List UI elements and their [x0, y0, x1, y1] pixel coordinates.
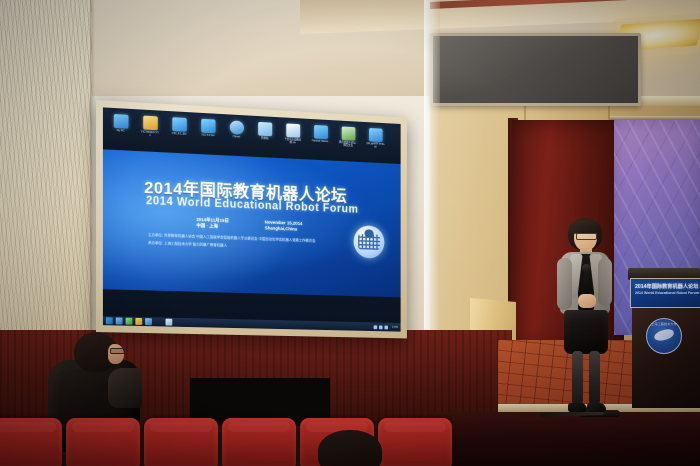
slide-meta-chinese: 2014年11月15日 中国 · 上海 — [196, 217, 228, 231]
desktop-icon-it-book[interactable]: DFLab中学 IT Book — [366, 128, 384, 150]
speaker-arm-right — [598, 258, 612, 306]
shortcut-icon — [286, 123, 300, 137]
system-tray[interactable]: 14:05 — [373, 325, 398, 329]
desktop-icon-vjc-modem[interactable]: VJC-Modem V1.2 — [140, 115, 159, 138]
slide-location-cn: 中国 · 上海 — [196, 223, 228, 231]
desktop-icon-label: 回收站 — [255, 136, 274, 140]
speaker-arm-left — [557, 258, 572, 310]
glasses-icon — [110, 348, 125, 354]
lectern-banner-title-cn: 2014年国际教育机器人论坛 — [635, 283, 698, 290]
speaker-woman — [540, 218, 626, 430]
document-icon — [369, 128, 383, 142]
seat[interactable] — [0, 418, 62, 466]
desktop-icon-itunes[interactable]: iTunes — [227, 120, 246, 142]
tray-volume-icon[interactable] — [379, 325, 383, 329]
projection-screen-surface: My PC VJC-Modem V1.2 VJC_6.1_EN VJC 4.0 … — [103, 107, 401, 331]
red-auditorium-seats — [0, 418, 470, 466]
desktop-icon-vjc40ch[interactable]: VJC 4.0 CH — [198, 119, 217, 141]
taskbar-icon-browser[interactable] — [135, 318, 142, 325]
slide-location-en: Shanghai,China — [265, 226, 303, 234]
taskbar-icon-explorer[interactable] — [116, 317, 123, 324]
dark-wall-board — [430, 33, 641, 106]
folder-icon — [314, 125, 328, 139]
start-button-icon[interactable] — [106, 317, 113, 324]
taskbar-icon-app[interactable] — [126, 318, 133, 325]
desktop-background-bottom: 14:05 — [103, 289, 401, 331]
speaker-fringe — [569, 220, 601, 234]
app-icon — [201, 119, 215, 134]
desktop-icon-recycle-bin[interactable]: 回收站 — [255, 122, 274, 144]
taskbar-icon-media[interactable] — [145, 318, 152, 325]
desktop-icon-label: DFLab中学 IT Book — [366, 142, 384, 149]
recycle-bin-icon — [258, 122, 272, 136]
jacket-shoulder — [108, 368, 142, 408]
seat[interactable] — [66, 418, 140, 466]
lecture-hall-photo: My PC VJC-Modem V1.2 VJC_6.1_EN VJC 4.0 … — [0, 0, 700, 466]
lectern-banner-title-en: 2014 World Educational Robot Forum — [635, 291, 699, 295]
lectern-banner: 2014年国际教育机器人论坛 2014 World Educational Ro… — [630, 278, 700, 308]
university-emblem-text: 上海工程技术大学 — [647, 322, 681, 326]
speaker-shoe-right — [587, 403, 606, 412]
university-emblem-icon: 上海工程技术大学 — [646, 318, 682, 354]
desktop-icon-row: My PC VJC-Modem V1.2 VJC_6.1_EN VJC 4.0 … — [111, 114, 385, 150]
document-icon — [341, 126, 355, 140]
lectern: 2014年国际教育机器人论坛 2014 World Educational Ro… — [628, 268, 700, 428]
computer-icon — [113, 114, 128, 129]
desktop-icon-label: VJC_6.1_EN — [169, 132, 188, 136]
speaker-shoe-left — [568, 403, 587, 412]
desktop-icon-label: 教育机器人论坛 - 网页文档 — [339, 141, 357, 148]
seat[interactable] — [222, 418, 296, 466]
audience-man-face — [108, 344, 124, 364]
projection-screen: My PC VJC-Modem V1.2 VJC_6.1_EN VJC 4.0 … — [96, 100, 407, 338]
desktop-icon-my-pc[interactable]: My PC — [111, 114, 131, 137]
microphone-head-icon — [582, 264, 591, 272]
tray-battery-icon[interactable] — [384, 325, 388, 329]
desktop-icon-label: My PC — [111, 129, 131, 133]
presentation-slide: 2014年国际教育机器人论坛 2014 World Educational Ro… — [103, 149, 401, 297]
globe-robot-logo-icon — [354, 225, 385, 259]
acoustic-wall-panel — [0, 0, 92, 330]
slide-organizer-line-2: 承办单位: 上海工程技术大学 能力风暴广教育机器人 — [148, 241, 227, 249]
speaker-leg-left — [572, 351, 583, 405]
app-icon — [172, 117, 186, 132]
acoustic-panel-edge — [90, 0, 95, 332]
seat[interactable] — [378, 418, 452, 466]
desktop-icon-vjc61en[interactable]: VJC_6.1_EN — [169, 117, 188, 140]
desktop-icon-favorite-stores[interactable]: Favorite Stores.. — [311, 125, 329, 147]
taskbar-icon-powerpoint[interactable] — [166, 319, 173, 326]
desktop-icon-label: iTunes — [227, 135, 246, 139]
desktop-icon-shortcut-edu[interactable]: 千里马心动教育 网.lnk — [283, 123, 302, 145]
slide-content: 2014年国际教育机器人论坛 2014 World Educational Ro… — [103, 149, 401, 297]
taskbar-clock[interactable]: 14:05 — [392, 326, 398, 329]
desktop-icon-label: VJC 4.0 CH — [198, 133, 217, 137]
desktop-icon-label: 千里马心动教育 网.lnk — [283, 138, 302, 146]
tray-network-icon[interactable] — [373, 325, 377, 329]
desktop-icon-label: VJC-Modem V1.2 — [140, 130, 159, 138]
speaker-leg-right — [589, 351, 600, 405]
audience-head-foreground — [318, 430, 382, 466]
folder-icon — [143, 116, 158, 131]
slide-meta-english: November 15,2014 Shanghai,China — [265, 220, 303, 234]
desktop-icon-forum-doc[interactable]: 教育机器人论坛 - 网页文档 — [339, 126, 357, 148]
glasses-icon — [576, 233, 597, 240]
seat[interactable] — [144, 418, 218, 466]
itunes-icon — [229, 120, 243, 134]
desktop-icon-label: Favorite Stores.. — [311, 139, 329, 143]
speaker-dress — [564, 310, 608, 354]
speaker-hands — [578, 294, 596, 308]
wall-corner-pillar — [424, 0, 440, 350]
